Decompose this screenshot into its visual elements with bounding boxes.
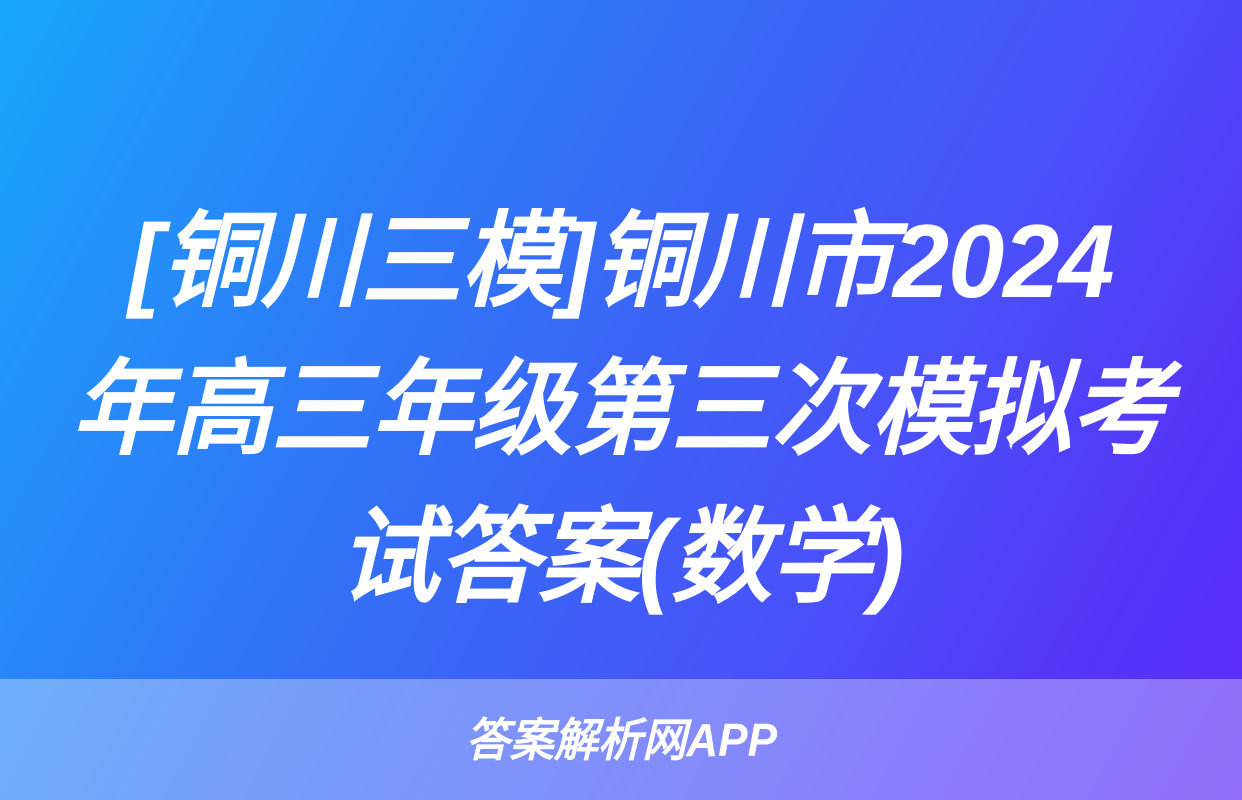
banner-title: [铜川三模]铜川市2024 年高三年级第三次模拟考 试答案(数学) xyxy=(0,188,1242,632)
footer-watermark-band: 答案解析网APP xyxy=(0,679,1242,800)
watermark-label: 答案解析网APP xyxy=(465,715,777,765)
title-line-2: 年高三年级第三次模拟考 xyxy=(19,336,1224,484)
title-line-1: [铜川三模]铜川市2024 xyxy=(19,188,1224,336)
footer-inner: 答案解析网APP xyxy=(0,679,1242,800)
title-line-3: 试答案(数学) xyxy=(19,484,1224,632)
exam-answer-banner: [铜川三模]铜川市2024 年高三年级第三次模拟考 试答案(数学) 答案解析网A… xyxy=(0,0,1242,800)
